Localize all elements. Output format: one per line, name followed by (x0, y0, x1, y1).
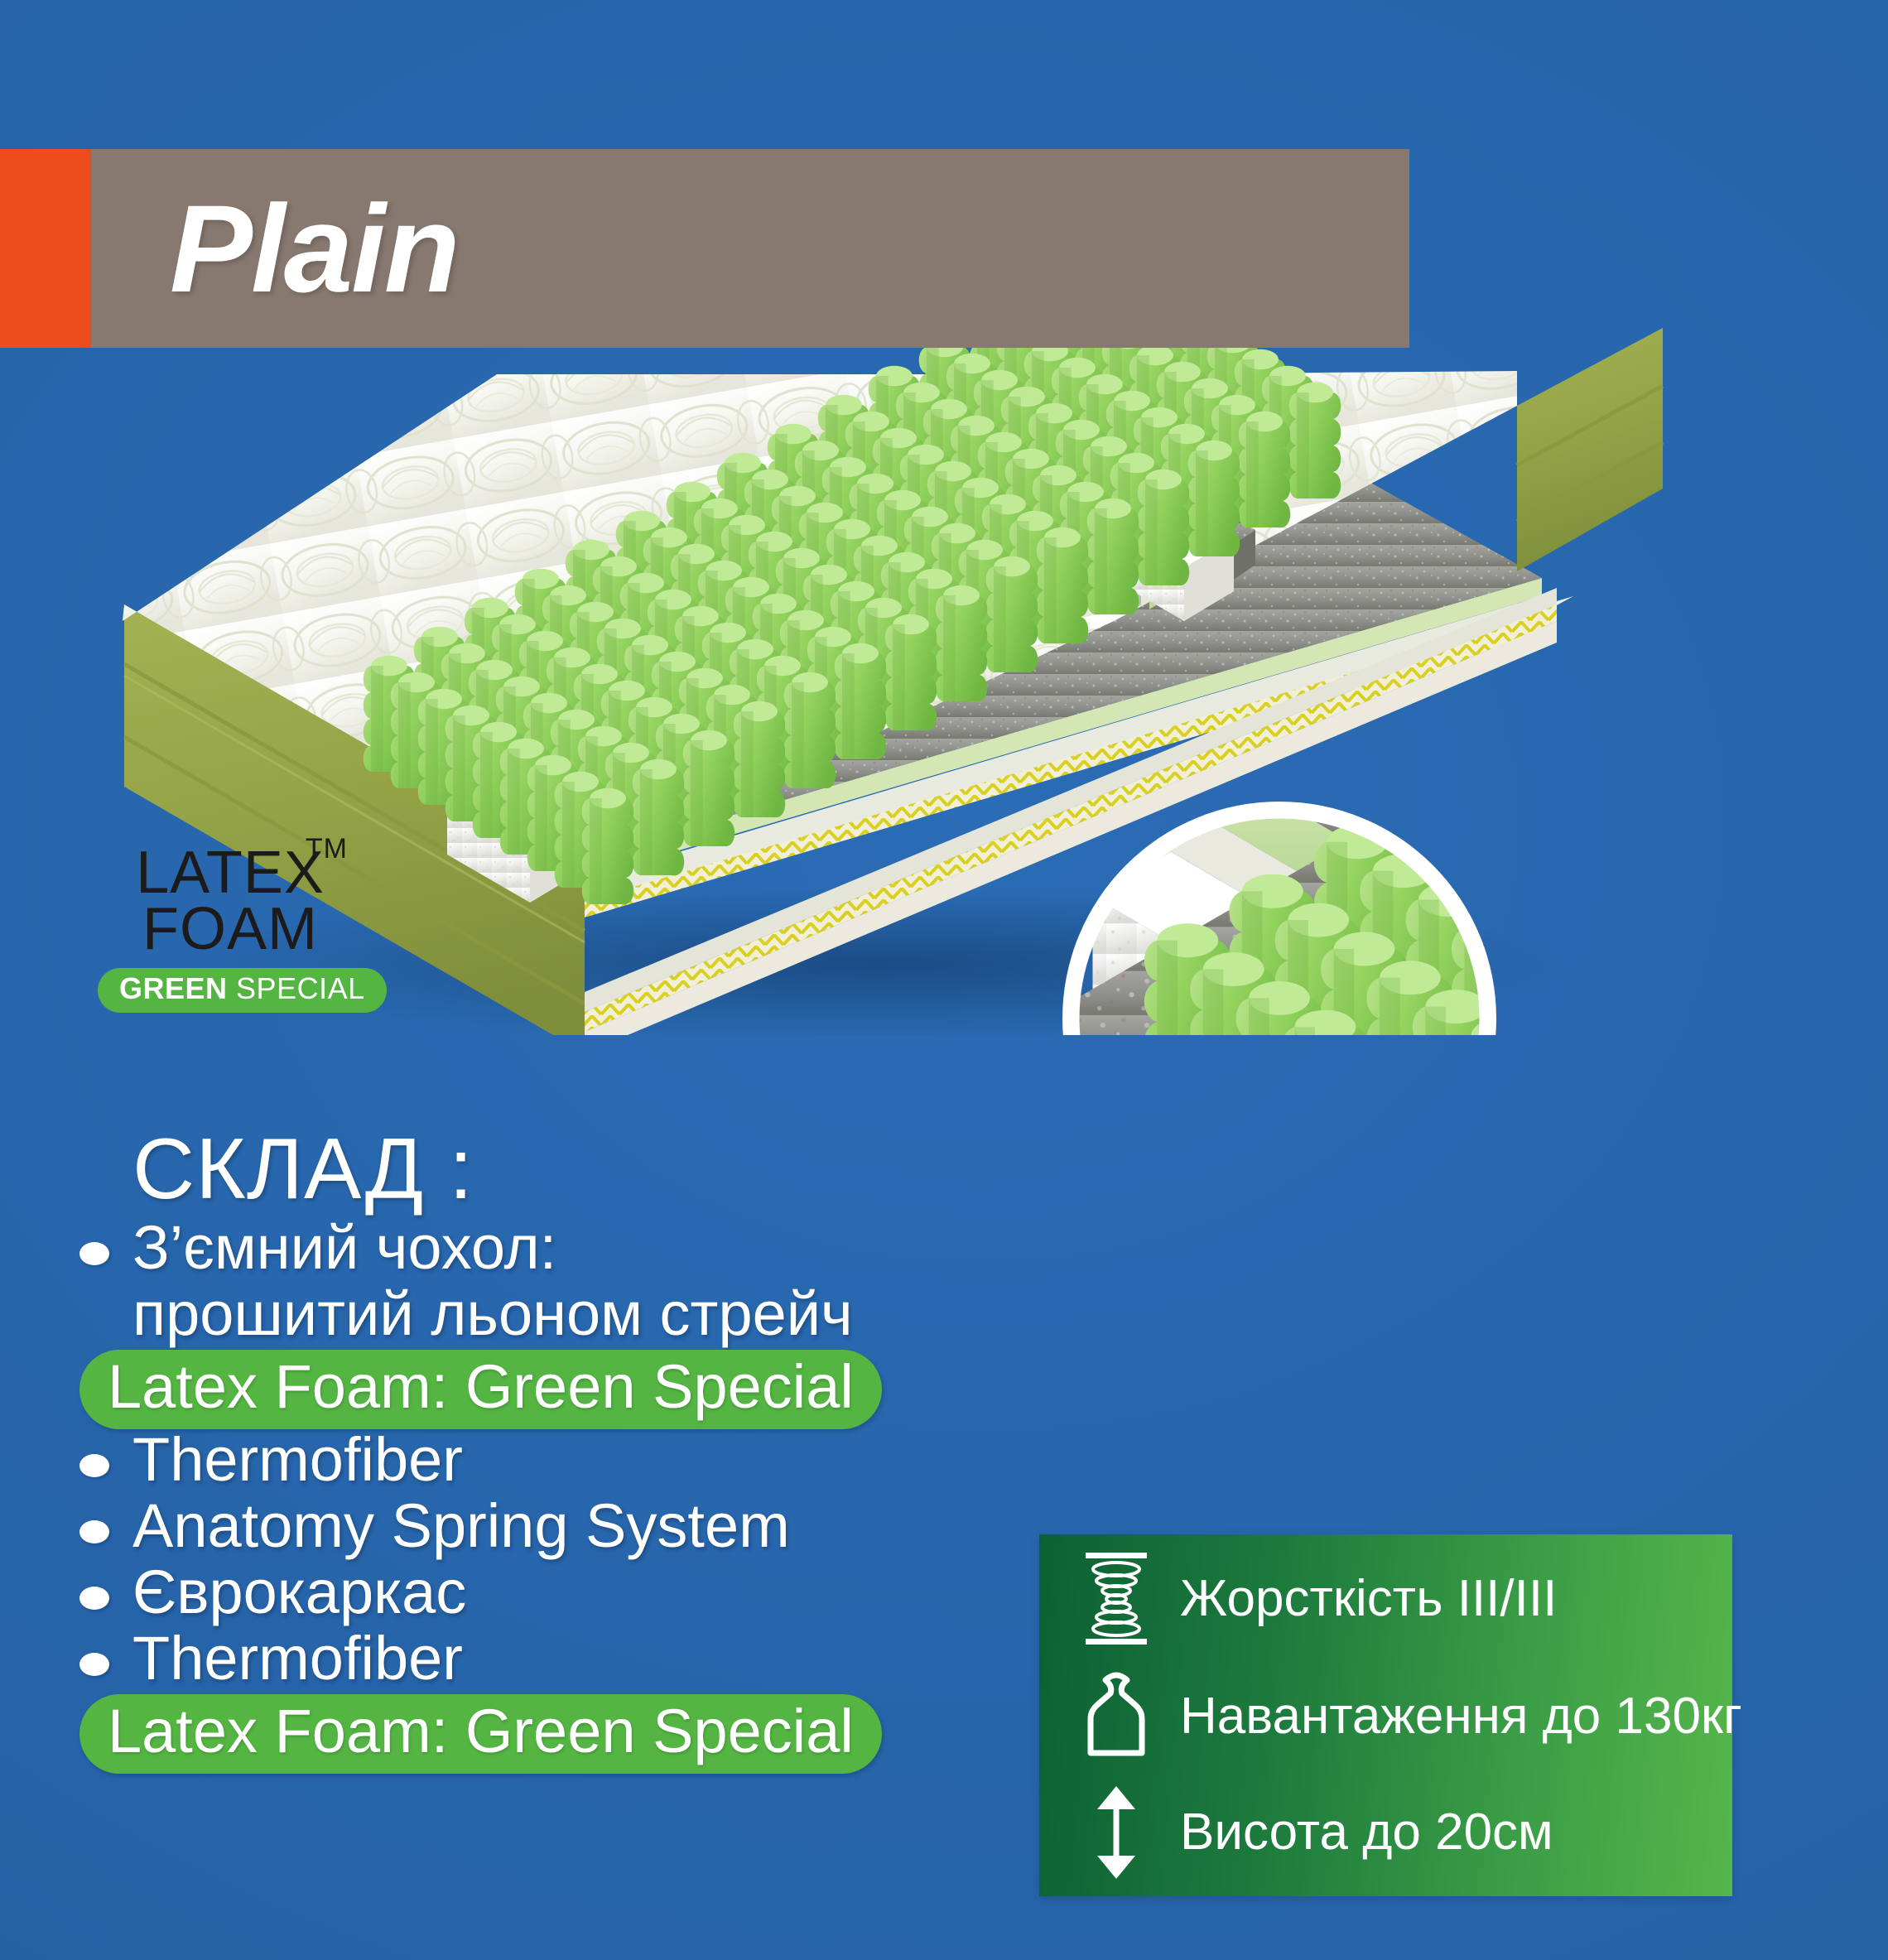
composition-item-label: Anatomy Spring System (132, 1495, 1019, 1557)
composition-highlight-pill: Latex Foam: Green Special (79, 1350, 882, 1429)
composition-item: прошитий льоном стрейч (0, 1283, 1019, 1350)
product-title: Plain (170, 186, 458, 311)
list-bullet (79, 1587, 109, 1610)
list-bullet (79, 1520, 109, 1543)
spec-label-load: Навантаження до 130кг (1180, 1691, 1742, 1742)
composition-item-label: Thermofiber (132, 1628, 1019, 1689)
composition-heading: СКЛАД : (132, 1126, 1019, 1212)
composition-item: Thermofiber (0, 1628, 1019, 1694)
list-bullet (79, 1653, 109, 1676)
badge-word-green: GREEN (119, 971, 228, 1005)
banner-accent-block (0, 149, 91, 348)
latex-foam-logo: TM LATEX FOAM GREEN SPECIAL (98, 845, 363, 1013)
composition-item: Latex Foam: Green Special (0, 1350, 1019, 1429)
title-banner: Plain (0, 149, 1409, 348)
poster-root: TM LATEX FOAM GREEN SPECIAL СКЛАД : З’єм… (0, 0, 1888, 1960)
composition-item: Latex Foam: Green Special (0, 1694, 1019, 1774)
weight-icon (1076, 1667, 1157, 1766)
height-arrow-icon (1076, 1783, 1157, 1882)
trademark-symbol: TM (306, 833, 348, 865)
green-special-badge: GREEN SPECIAL (98, 968, 387, 1013)
composition-pill-label: Latex Foam: Green Special (108, 1697, 854, 1765)
composition-item: Anatomy Spring System (0, 1495, 1019, 1562)
spring-icon (1076, 1549, 1157, 1649)
composition-item-label: З’ємний чохол: (132, 1217, 1019, 1279)
composition-section: СКЛАД : З’ємний чохол:прошитий льоном ст… (0, 1126, 1019, 1774)
banner-bar: Plain (91, 149, 1409, 348)
composition-item: Thermofiber (0, 1429, 1019, 1495)
spec-row-height: Висота до 20см (1076, 1783, 1553, 1882)
composition-item-label: Єврокаркас (132, 1562, 1019, 1623)
spec-label-firmness: Жорсткість III/III (1180, 1573, 1557, 1625)
composition-item-label: Thermofiber (132, 1429, 1019, 1490)
logo-line-foam: FOAM (98, 901, 363, 957)
spec-label-height: Висота до 20см (1180, 1807, 1553, 1858)
composition-item: Єврокаркас (0, 1562, 1019, 1628)
specifications-panel: Жорсткість III/III Навантаження до 130кг… (1039, 1534, 1732, 1896)
badge-word-special: SPECIAL (228, 971, 365, 1005)
list-bullet (79, 1454, 109, 1477)
list-bullet (79, 1242, 109, 1265)
composition-list: З’ємний чохол:прошитий льоном стрейчLate… (0, 1217, 1019, 1774)
spec-row-load: Навантаження до 130кг (1076, 1667, 1742, 1766)
spec-row-firmness: Жорсткість III/III (1076, 1549, 1557, 1649)
mattress-side-right (1517, 328, 1663, 571)
composition-pill-label: Latex Foam: Green Special (108, 1352, 854, 1421)
composition-item-label: прошитий льоном стрейч (132, 1283, 1019, 1345)
composition-highlight-pill: Latex Foam: Green Special (79, 1694, 882, 1774)
composition-item: З’ємний чохол: (0, 1217, 1019, 1283)
